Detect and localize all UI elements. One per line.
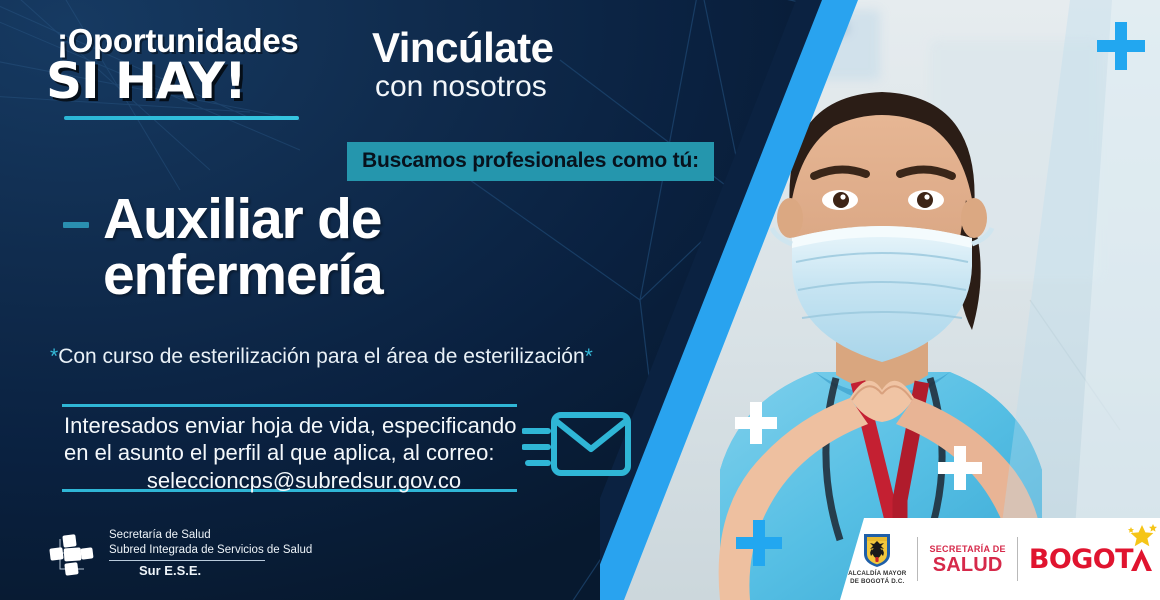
alcaldia-line1: ALCALDÍA MAYOR bbox=[848, 570, 906, 578]
logo-divider-1 bbox=[917, 537, 918, 581]
alcaldia-caption: ALCALDÍA MAYOR DE BOGOTÁ D.C. bbox=[848, 570, 906, 586]
subred-logo-line3: Sur E.S.E. bbox=[109, 563, 312, 580]
asterisk-left: * bbox=[50, 345, 58, 368]
invite-title: Vincúlate bbox=[372, 24, 553, 72]
plus-icon-arm-white bbox=[733, 400, 779, 446]
secretaria-top-text: SECRETARÍA DE bbox=[929, 544, 1005, 554]
job-title-line1: Auxiliar de bbox=[103, 187, 381, 251]
plus-icon-top-right bbox=[1095, 20, 1147, 72]
bogota-coat-of-arms-icon bbox=[861, 532, 893, 568]
secretaria-salud-logo: SECRETARÍA DE SALUD bbox=[929, 544, 1005, 575]
logo-divider-2 bbox=[1017, 537, 1018, 581]
job-title: Auxiliar de enfermería bbox=[103, 191, 383, 304]
subred-logo-mark-icon bbox=[44, 529, 98, 579]
invite-subtitle: con nosotros bbox=[375, 70, 547, 104]
headline-underline bbox=[64, 116, 299, 120]
plus-icon-lower-blue bbox=[734, 518, 784, 568]
plus-icon-shoulder-white bbox=[936, 444, 984, 492]
banner-buscamos: Buscamos profesionales como tú: bbox=[347, 142, 714, 181]
dash-marker-icon bbox=[63, 222, 89, 228]
alcaldia-line2: DE BOGOTÁ D.C. bbox=[848, 578, 906, 586]
job-title-line2: enfermería bbox=[103, 247, 383, 303]
bogota-stars-icon bbox=[1122, 523, 1158, 549]
subred-logo-divider bbox=[109, 560, 265, 561]
subred-sur-logo: Secretaría de Salud Subred Integrada de … bbox=[44, 528, 312, 580]
institutional-logo-bar: ALCALDÍA MAYOR DE BOGOTÁ D.C. SECRETARÍA… bbox=[840, 518, 1160, 600]
contact-instructions: Interesados enviar hoja de vida, especif… bbox=[64, 412, 534, 494]
requirement-note: *Con curso de esterilización para el áre… bbox=[50, 345, 593, 369]
headline-line2: SI HAY! bbox=[46, 52, 246, 110]
secretaria-bottom-text: SALUD bbox=[933, 555, 1003, 575]
bogota-a-chevron-icon bbox=[1131, 549, 1152, 571]
recruitment-poster: ¡Oportunidades SI HAY! Vincúlate con nos… bbox=[0, 0, 1160, 600]
subred-logo-line2: Subred Integrada de Servicios de Salud bbox=[109, 543, 312, 558]
requirement-note-text: Con curso de esterilización para el área… bbox=[58, 345, 584, 368]
envelope-icon bbox=[522, 403, 634, 489]
contact-line2: en el asunto el perfil al que aplica, al… bbox=[64, 440, 494, 465]
contact-email[interactable]: seleccioncps@subredsur.gov.co bbox=[64, 467, 534, 494]
asterisk-right: * bbox=[585, 345, 593, 368]
contact-line1: Interesados enviar hoja de vida, especif… bbox=[64, 413, 517, 438]
bogota-brand-logo: BOGOT bbox=[1029, 544, 1152, 575]
contact-rule-top bbox=[62, 404, 517, 407]
subred-logo-line1: Secretaría de Salud bbox=[109, 528, 312, 543]
bogota-text: BOGOT bbox=[1029, 544, 1133, 575]
